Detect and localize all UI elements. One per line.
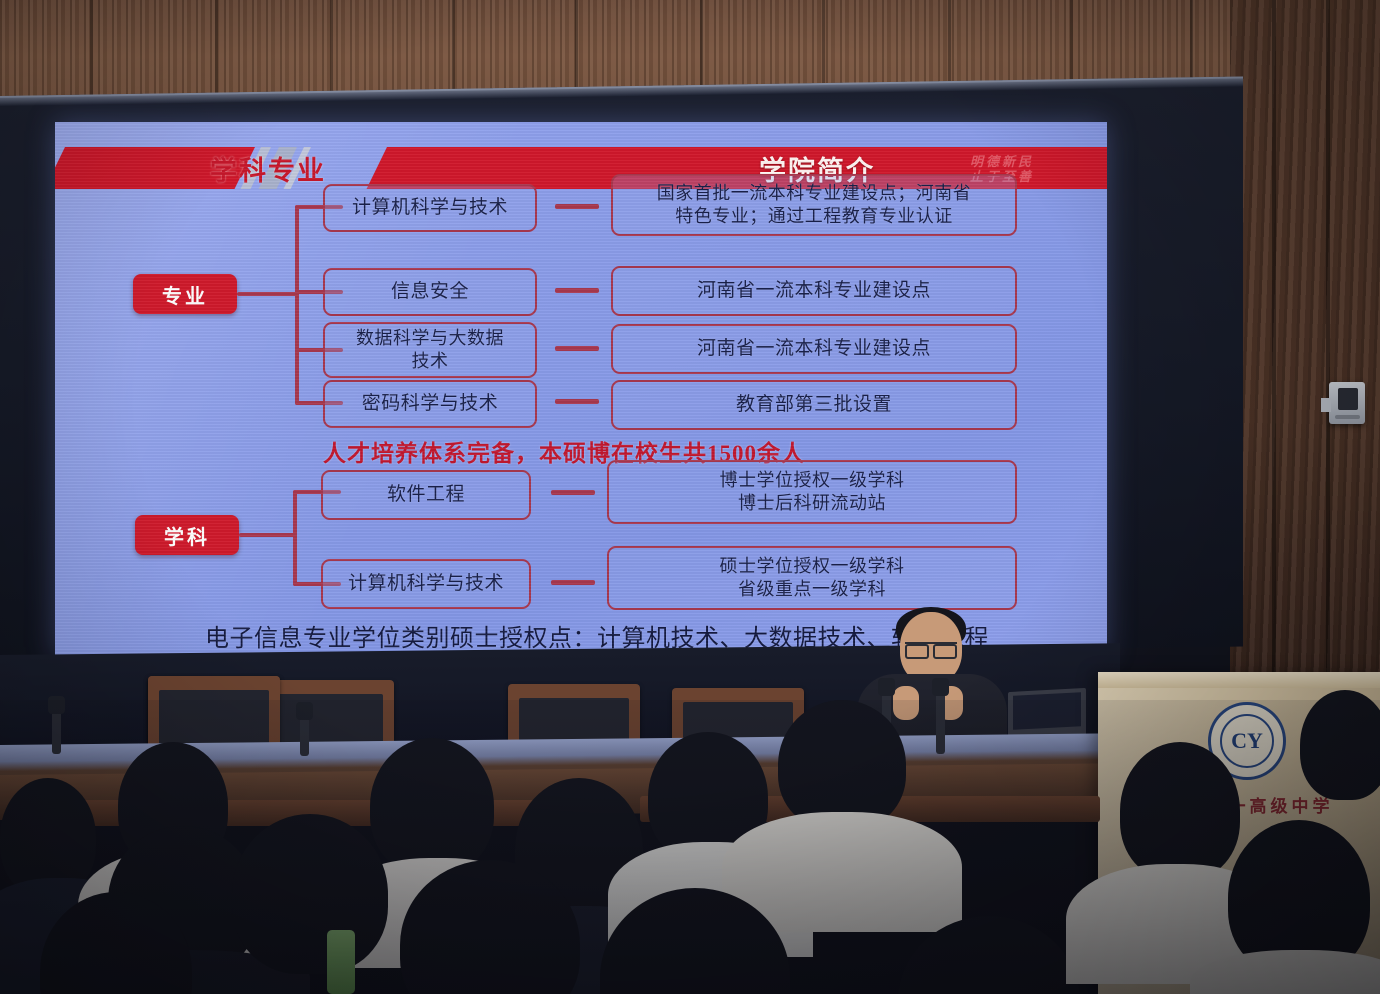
emblem-letters: CY [1220, 714, 1274, 768]
school-name-text: 商丘市第一高级中学 [1098, 792, 1380, 817]
dash-discipline-2 [551, 580, 595, 585]
microphone [52, 706, 61, 754]
discipline-detail-2: 硕士学位授权一级学科 省级重点一级学科 [607, 546, 1017, 610]
stage-table [0, 733, 1120, 820]
connector-majors-stem [237, 292, 299, 296]
discipline-box-2: 计算机科学与技术 [321, 559, 531, 609]
major-box-2: 信息安全 [323, 268, 537, 316]
dash-major-2 [555, 288, 599, 293]
wood-wall-right [1230, 0, 1380, 700]
dash-major-1 [555, 204, 599, 209]
major-box-4: 密码科学与技术 [323, 380, 537, 428]
dash-major-4 [555, 399, 599, 404]
discipline-box-1: 软件工程 [321, 470, 531, 520]
discipline-detail-1: 博士学位授权一级学科 博士后科研流动站 [607, 460, 1017, 524]
microphone [882, 688, 891, 754]
water-bottle [327, 930, 355, 994]
connector-majors-trunk [295, 205, 299, 405]
major-detail-4: 教育部第三批设置 [611, 380, 1017, 430]
major-box-3: 数据科学与大数据 技术 [323, 322, 537, 378]
majors-tag: 专业 [133, 274, 237, 314]
major-detail-2: 河南省一流本科专业建设点 [611, 266, 1017, 316]
school-emblem-icon: CY [1208, 702, 1286, 780]
lecture-hall-photo: 学科专业 学院简介 明德新民 止于至善 专业 计算机科学与技术 信息安全 数据科… [0, 0, 1380, 994]
dash-discipline-1 [551, 490, 595, 495]
watermark-line-1: 明德新民 [970, 154, 1034, 169]
podium: CY 商丘市第一高级中学 [1098, 672, 1380, 994]
projected-slide: 学科专业 学院简介 明德新民 止于至善 专业 计算机科学与技术 信息安全 数据科… [55, 122, 1107, 656]
slide-title-left: 学科专业 [163, 150, 373, 186]
major-detail-1: 国家首批一流本科专业建设点；河南省 特色专业；通过工程教育专业认证 [611, 174, 1017, 236]
dash-major-3 [555, 346, 599, 351]
connector-disc-stem [239, 533, 297, 537]
major-detail-3: 河南省一流本科专业建设点 [611, 324, 1017, 374]
wall-speaker-icon [1329, 382, 1365, 424]
connector-disc-trunk [293, 490, 297, 586]
disciplines-tag: 学科 [135, 515, 239, 555]
microphone [936, 688, 945, 754]
microphone [300, 712, 309, 756]
major-box-1: 计算机科学与技术 [323, 184, 537, 232]
